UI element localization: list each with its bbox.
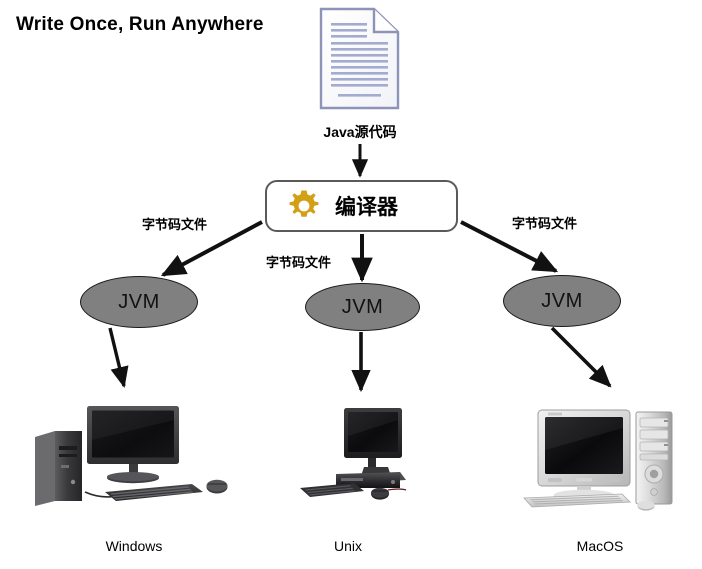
windows-computer-icon [25, 396, 240, 508]
edge-label-bytecode-left: 字节码文件 [142, 214, 207, 233]
source-code-label: Java源代码 [296, 122, 424, 142]
document-icon [318, 6, 402, 112]
gear-icon [287, 189, 321, 223]
arrow-jvm-to-macos-pc [552, 328, 610, 386]
unix-computer-icon [292, 402, 410, 508]
compiler-node[interactable]: 编译器 [265, 180, 458, 232]
jvm-node-windows[interactable]: JVM [80, 276, 198, 328]
edge-label-bytecode-right: 字节码文件 [512, 213, 577, 232]
page-title: Write Once, Run Anywhere [16, 14, 264, 36]
jvm-label: JVM [342, 296, 384, 319]
jvm-label: JVM [118, 291, 160, 314]
platform-caption-windows: Windows [54, 538, 214, 554]
diagram-canvas: Write Once, Run Anywhere [0, 0, 702, 569]
jvm-node-unix[interactable]: JVM [305, 283, 420, 331]
compiler-label: 编译器 [335, 191, 398, 221]
platform-caption-macos: MacOS [530, 538, 670, 554]
jvm-node-macos[interactable]: JVM [503, 275, 621, 327]
edge-label-bytecode-middle: 字节码文件 [266, 252, 331, 271]
platform-caption-unix: Unix [288, 538, 408, 554]
macos-computer-icon [518, 398, 676, 514]
arrow-jvm-to-windows-pc [110, 328, 124, 386]
jvm-label: JVM [541, 290, 583, 313]
